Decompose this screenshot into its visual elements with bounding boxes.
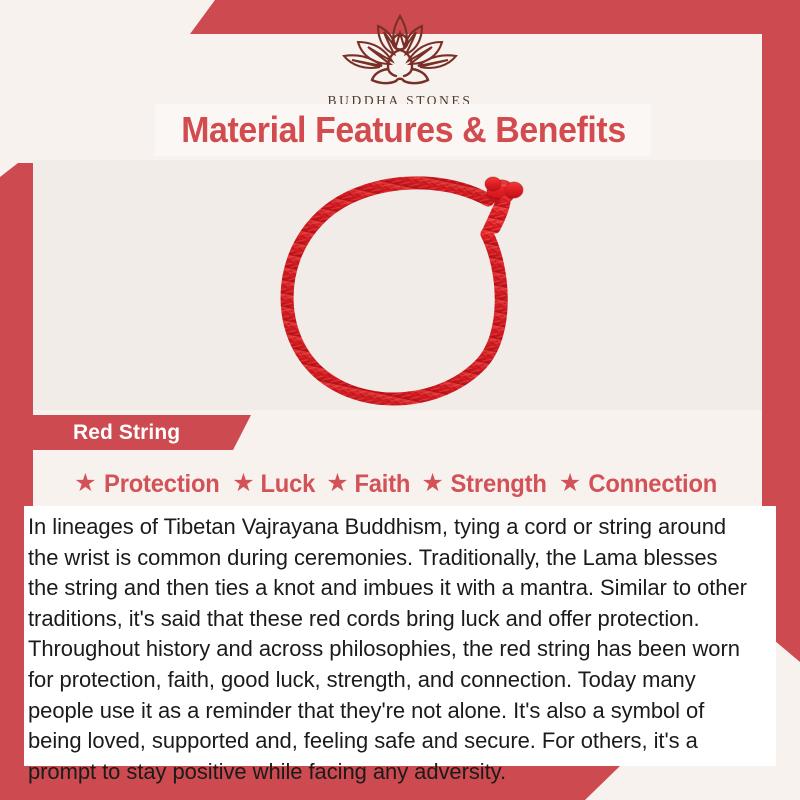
feature-item-luck: ★ Luck [232, 470, 316, 499]
description-block: In lineages of Tibetan Vajrayana Buddhis… [24, 506, 776, 766]
feature-item-strength: ★ Strength [421, 470, 549, 499]
lotus-meditation-figure-icon [0, 12, 800, 91]
product-image-area [33, 160, 762, 410]
brand-logo: BUDDHA STONES [0, 12, 800, 109]
description-paragraph: In lineages of Tibetan Vajrayana Buddhis… [28, 512, 751, 787]
star-icon: ★ [559, 471, 581, 496]
feature-label: Connection [589, 470, 718, 499]
page-title-band: Material Features & Benefits [155, 104, 651, 156]
feature-list: ★ Protection ★ Luck ★ Faith ★ Strength ★… [33, 464, 762, 504]
feature-label: Faith [354, 470, 410, 499]
infographic-page: BUDDHA STONES Material Features & Benefi… [0, 0, 800, 800]
feature-item-connection: ★ Connection [559, 470, 721, 499]
star-icon: ★ [74, 471, 96, 496]
red-string-bracelet-icon [233, 160, 563, 410]
feature-label: Protection [104, 470, 220, 499]
feature-label: Luck [260, 470, 315, 499]
page-title: Material Features & Benefits [181, 109, 626, 151]
star-icon: ★ [421, 471, 443, 496]
star-icon: ★ [232, 471, 254, 496]
feature-label: Strength [450, 470, 546, 499]
material-label: Red String [33, 421, 180, 445]
feature-item-faith: ★ Faith [326, 470, 411, 499]
material-label-banner: Red String [33, 415, 251, 450]
feature-item-protection: ★ Protection [74, 470, 222, 499]
star-icon: ★ [326, 471, 348, 496]
